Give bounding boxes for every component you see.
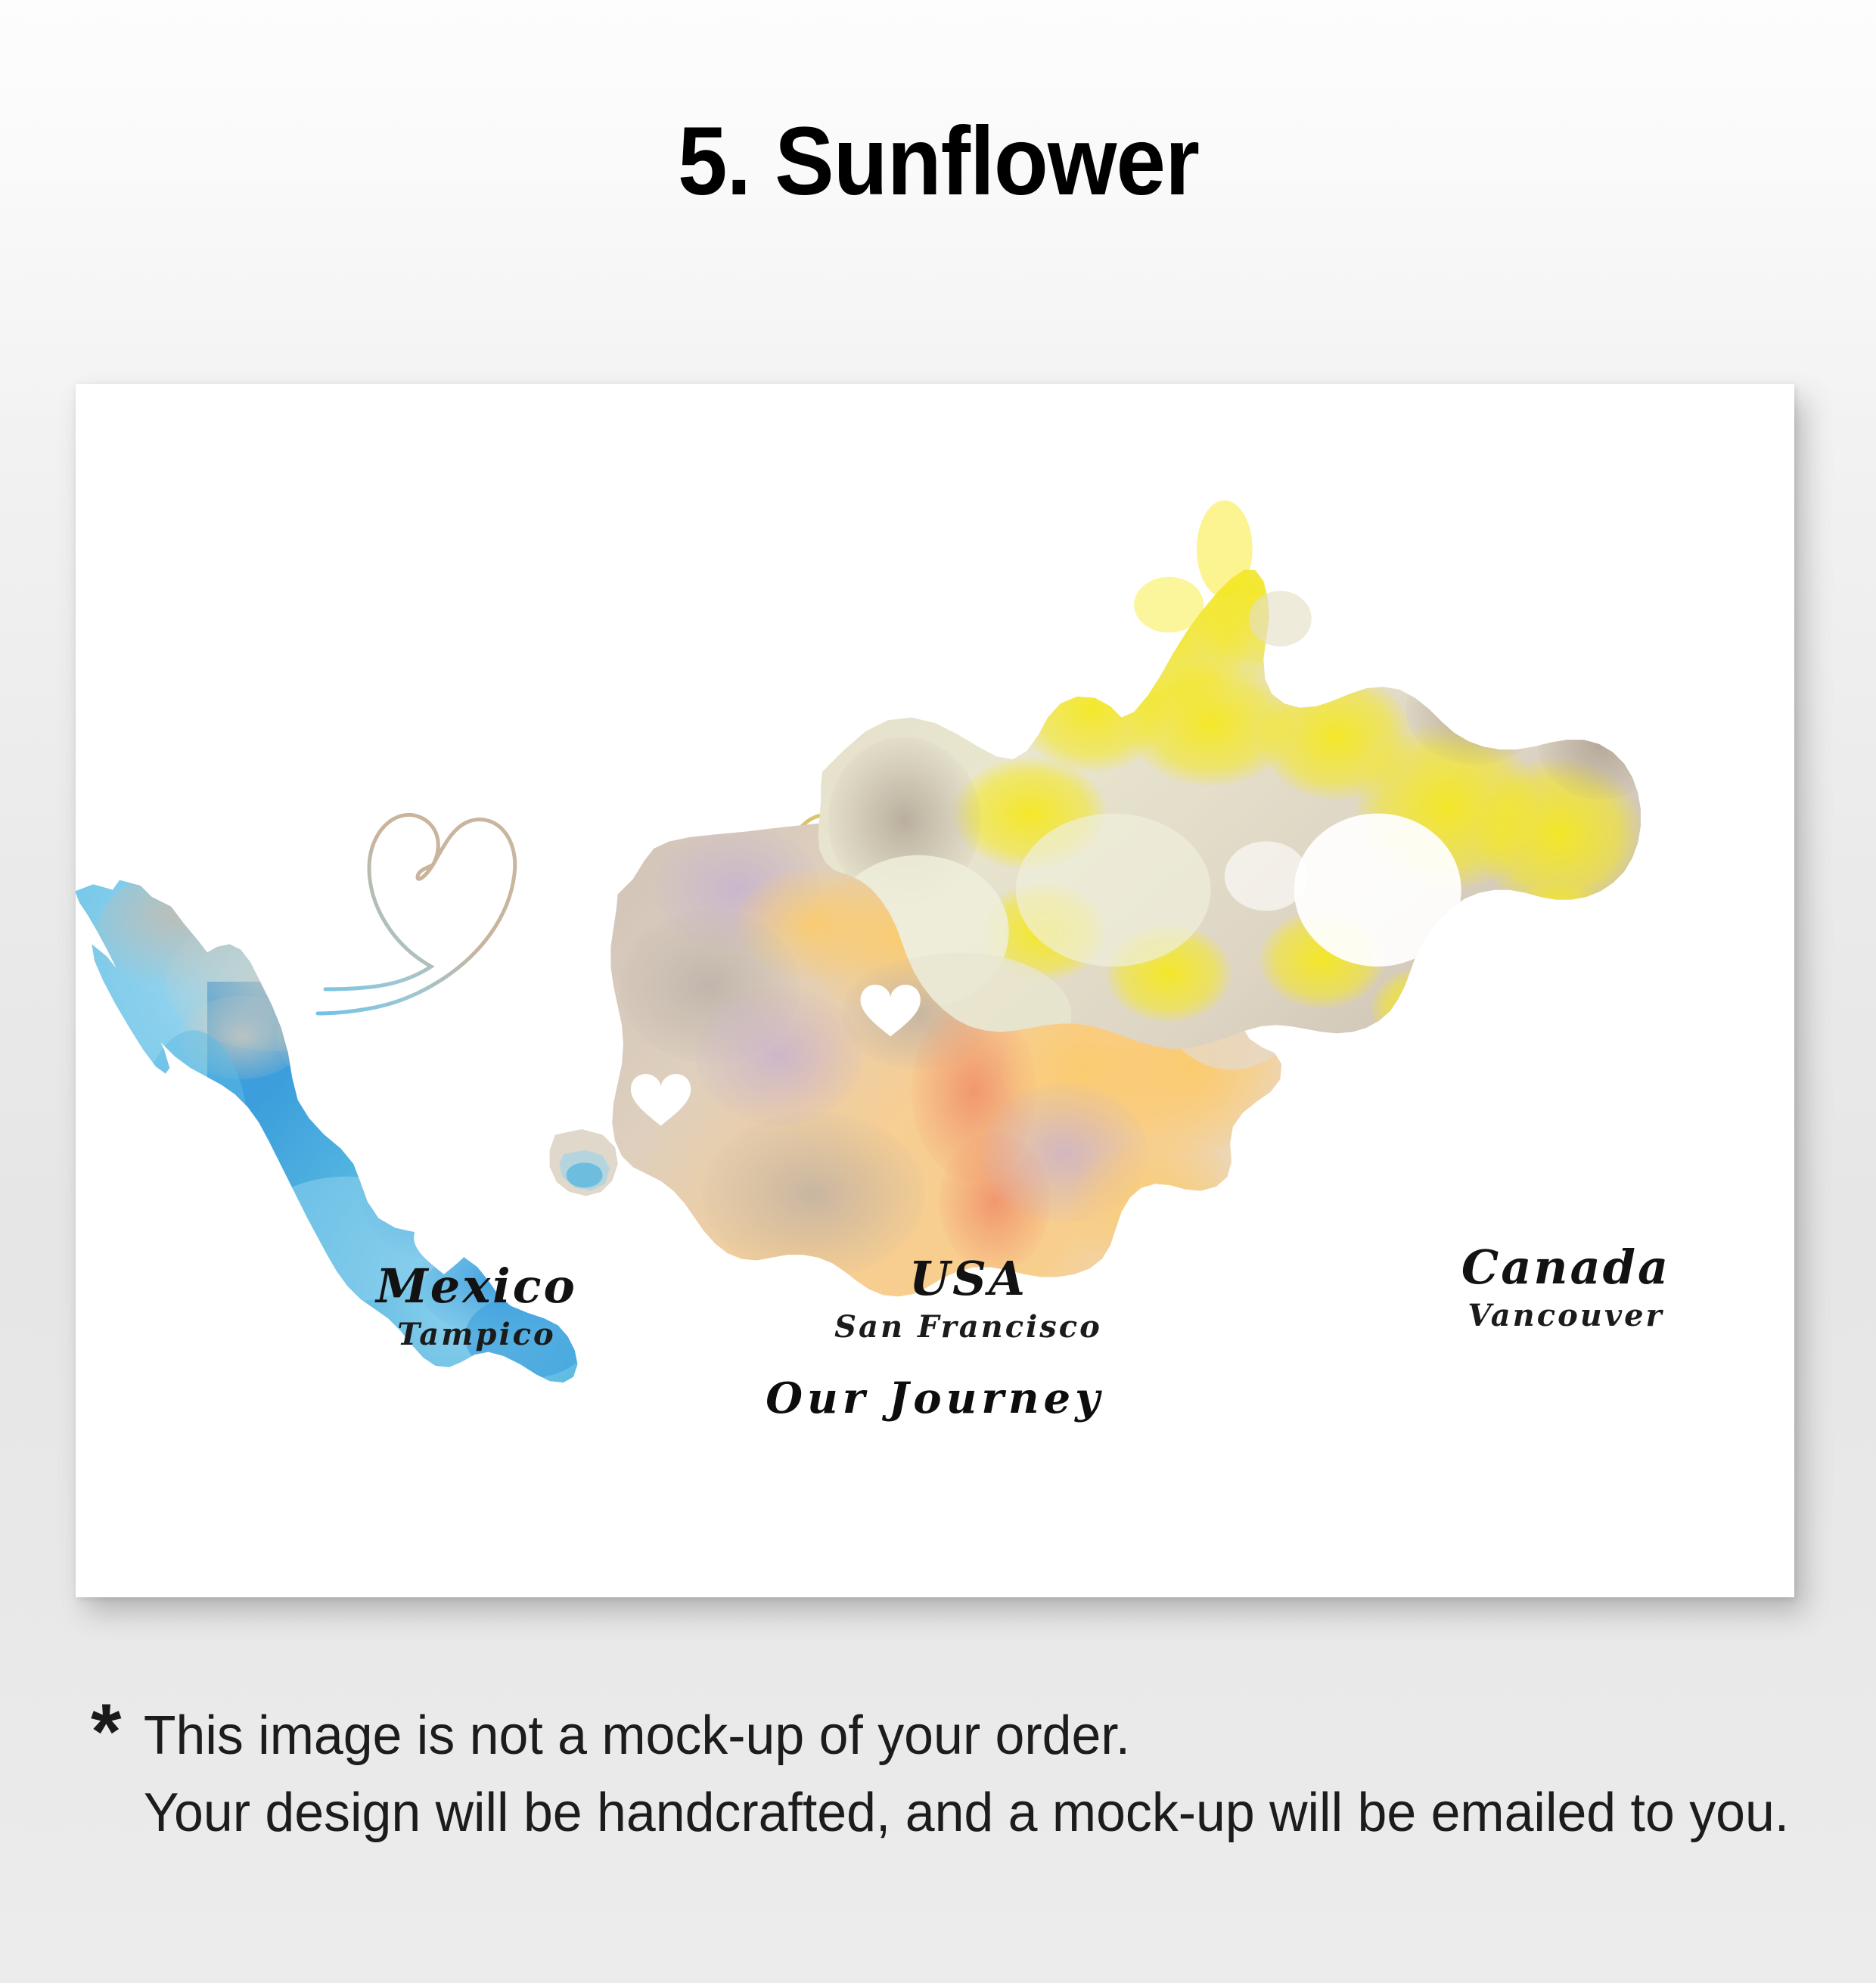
- country-block-canada: Canada Vancouver: [1339, 1243, 1793, 1333]
- city-label-mexico: Tampico: [250, 1318, 703, 1351]
- country-block-usa: USA San Francisco: [741, 1254, 1195, 1344]
- journey-caption: Our Journey: [595, 1373, 1275, 1423]
- page-title: 5. Sunflower: [677, 113, 1198, 210]
- title-bar: 5. Sunflower: [0, 113, 1876, 210]
- country-label-canada: Canada: [1339, 1243, 1793, 1292]
- disclaimer-line-2: Your design will be handcrafted, and a m…: [91, 1774, 1778, 1851]
- artwork-card: Mexico Tampico USA San Francisco Canada …: [76, 384, 1794, 1597]
- city-label-usa: San Francisco: [741, 1311, 1195, 1344]
- disclaimer-line-1: This image is not a mock-up of your orde…: [91, 1697, 1778, 1774]
- artwork-canvas: Mexico Tampico USA San Francisco Canada …: [76, 384, 1794, 1597]
- country-label-usa: USA: [741, 1254, 1195, 1303]
- country-label-mexico: Mexico: [250, 1261, 703, 1311]
- connector-heart-1: [318, 815, 515, 1013]
- country-block-mexico: Mexico Tampico: [250, 1261, 703, 1351]
- city-label-canada: Vancouver: [1339, 1299, 1793, 1333]
- disclaimer-note: * This image is not a mock-up of your or…: [91, 1697, 1831, 1851]
